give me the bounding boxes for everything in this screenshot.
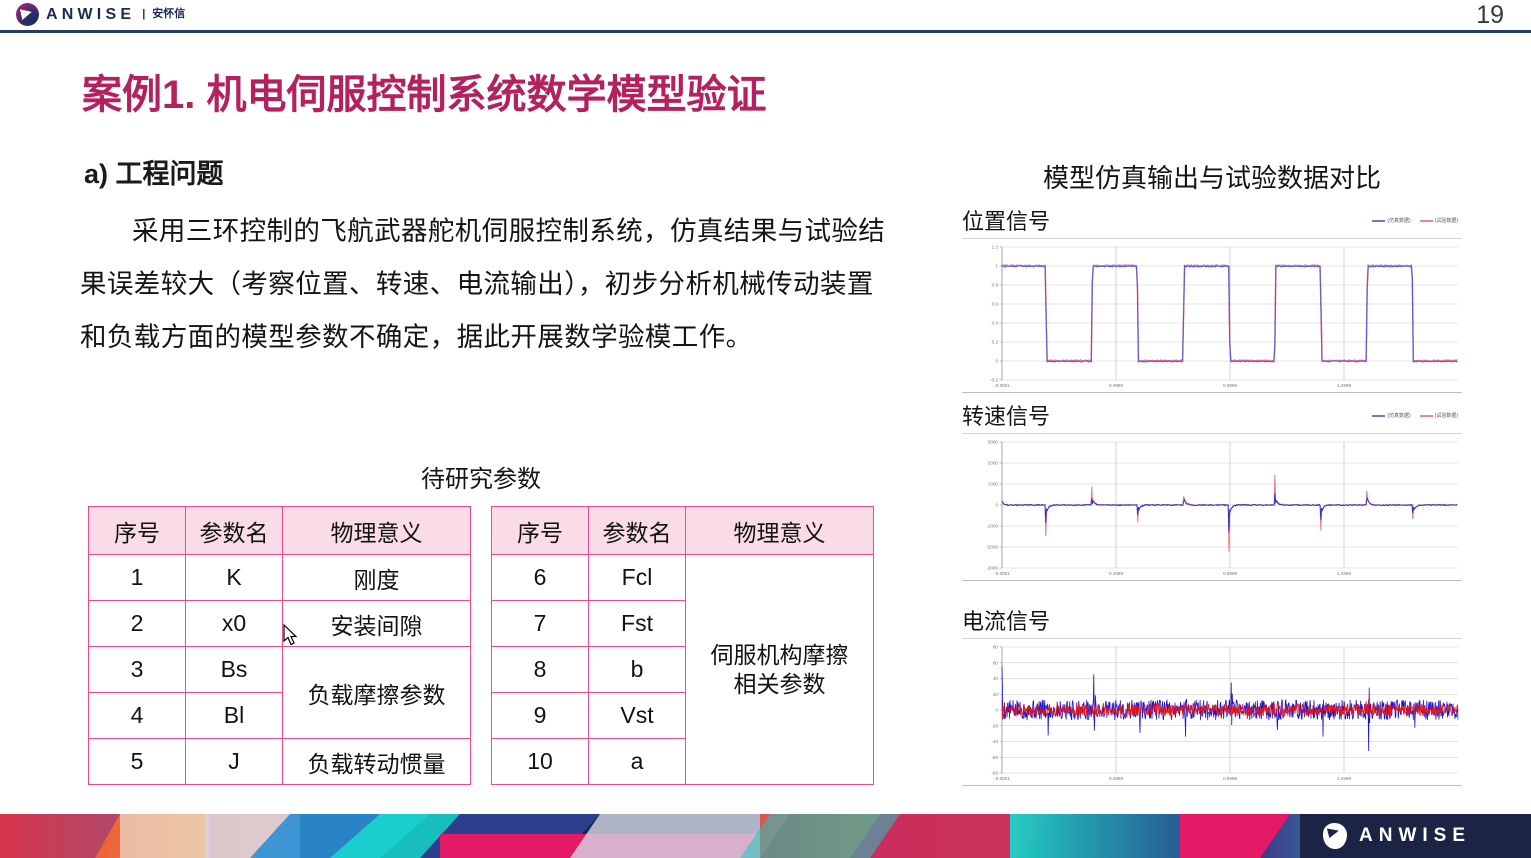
svg-text:-1000: -1000 [986,524,998,529]
svg-text:-60: -60 [991,755,998,760]
column-header-param: 参数名 [186,507,283,555]
column-header-no: 序号 [492,507,589,555]
page-number: 19 [1476,1,1504,29]
svg-text:0: 0 [995,503,998,508]
chart-legend-speed: (仿真数据) (试验数据) [1372,412,1458,419]
chart-position-signal: 位置信号 (仿真数据) (试验数据) 1.210.80.60.40.20-0.2… [962,208,1474,393]
cell-no: 4 [89,693,186,739]
body-paragraph: 采用三环控制的飞航武器舵机伺服控制系统，仿真结果与试验结果误差较大（考察位置、转… [80,205,900,364]
chart-svg-position: 1.210.80.60.40.20-0.2 -0.00010.49990.999… [962,239,1462,394]
footer-brand-name: ANWISE [1359,825,1471,847]
svg-text:2000: 2000 [988,461,999,466]
table-row: 5 J 负载转动惯量 [89,739,471,785]
svg-text:0: 0 [995,359,998,364]
legend-swatch-test [1420,220,1433,222]
cell-no: 7 [492,601,589,647]
table-row: 1 K 刚度 [89,555,471,601]
svg-text:-0.0001: -0.0001 [994,571,1010,576]
svg-text:0.4: 0.4 [992,321,999,326]
svg-text:-40: -40 [991,739,998,744]
svg-text:-2000: -2000 [986,545,998,550]
table-row: 2 x0 安装间隙 [89,601,471,647]
section-heading: a) 工程问题 [84,152,224,191]
cell-no: 1 [89,555,186,601]
anwise-logo: ANWISE | 安怀信 [16,3,185,26]
svg-text:0.4999: 0.4999 [1109,571,1123,576]
svg-text:-80: -80 [991,771,998,776]
chart-title-current: 电流信号 [962,608,1474,636]
table-header-row: 序号 参数名 物理意义 [492,507,874,555]
svg-text:-0.2: -0.2 [990,378,998,383]
chart-svg-speed: 3000200010000-1000-2000-3000 -0.00010.49… [962,434,1462,582]
charts-group-title: 模型仿真输出与试验数据对比 [948,158,1476,195]
legend-item-sim: (仿真数据) [1372,217,1410,224]
cell-meaning: 负载转动惯量 [283,739,471,785]
table-row: 3 Bs 负载摩擦参数 [89,647,471,693]
svg-text:-20: -20 [991,723,998,728]
cell-meaning: 安装间隙 [283,601,471,647]
chart-plot-position: (仿真数据) (试验数据) 1.210.80.60.40.20-0.2 -0.0… [962,238,1462,393]
parameters-table-right: 序号 参数名 物理意义 6 Fcl 伺服机构摩擦相关参数 7 Fst 8 b 9… [491,506,874,785]
cell-no: 3 [89,647,186,693]
legend-item-test: (试验数据) [1420,412,1458,419]
legend-label-sim: (仿真数据) [1387,217,1410,224]
svg-text:80: 80 [993,645,999,650]
footer-decoration [0,814,1531,858]
cell-no: 2 [89,601,186,647]
cell-meaning: 刚度 [283,555,471,601]
legend-label-test: (试验数据) [1435,217,1458,224]
legend-swatch-test [1420,415,1433,417]
cell-param: K [186,555,283,601]
svg-text:-3000: -3000 [986,566,998,571]
parameters-table-left: 序号 参数名 物理意义 1 K 刚度 2 x0 安装间隙 3 Bs 负载摩擦参数… [88,506,471,785]
cell-param: Fst [589,601,686,647]
legend-label-test: (试验数据) [1435,412,1458,419]
cell-param: b [589,647,686,693]
legend-swatch-sim [1372,220,1385,222]
anwise-footer-icon [1323,823,1347,849]
cell-param: Bs [186,647,283,693]
legend-item-test: (试验数据) [1420,217,1458,224]
cell-no: 9 [492,693,589,739]
svg-text:0.9999: 0.9999 [1223,383,1237,388]
column-header-meaning: 物理意义 [283,507,471,555]
cell-param: a [589,739,686,785]
chart-plot-current: 806040200-20-40-60-80 -0.00010.49990.999… [962,638,1462,786]
cell-param: Bl [186,693,283,739]
table-row: 6 Fcl 伺服机构摩擦相关参数 [492,555,874,601]
chart-speed-signal: 转速信号 (仿真数据) (试验数据) 3000200010000-1000-20… [962,403,1474,581]
footer-logo: ANWISE [1323,823,1471,849]
cell-param: J [186,739,283,785]
svg-text:-0.0001: -0.0001 [994,776,1010,781]
column-header-param: 参数名 [589,507,686,555]
svg-text:20: 20 [993,692,999,697]
legend-label-sim: (仿真数据) [1387,412,1410,419]
svg-text:0.4999: 0.4999 [1109,383,1123,388]
cell-param: Fcl [589,555,686,601]
footer-bar: ANWISE [0,814,1531,858]
svg-text:1000: 1000 [988,482,999,487]
table-caption: 待研究参数 [88,459,874,494]
table-header-row: 序号 参数名 物理意义 [89,507,471,555]
svg-text:40: 40 [993,676,999,681]
svg-text:0: 0 [995,708,998,713]
chart-legend-position: (仿真数据) (试验数据) [1372,217,1458,224]
cell-no: 8 [492,647,589,693]
svg-text:0.9999: 0.9999 [1223,776,1237,781]
chart-plot-speed: (仿真数据) (试验数据) 3000200010000-1000-2000-30… [962,433,1462,581]
cell-meaning-merged: 伺服机构摩擦相关参数 [686,555,874,785]
svg-text:0.4999: 0.4999 [1109,776,1123,781]
svg-text:1: 1 [995,264,998,269]
svg-text:0.2: 0.2 [992,340,999,345]
cell-no: 5 [89,739,186,785]
svg-text:1.4999: 1.4999 [1337,776,1351,781]
anwise-logo-icon [16,3,39,26]
svg-text:0.6: 0.6 [992,302,999,307]
parameters-table-group: 序号 参数名 物理意义 1 K 刚度 2 x0 安装间隙 3 Bs 负载摩擦参数… [88,506,874,784]
header-divider [0,30,1531,33]
table-gap [471,506,491,784]
svg-text:1.4999: 1.4999 [1337,571,1351,576]
cell-no: 6 [492,555,589,601]
svg-text:-0.0001: -0.0001 [994,383,1010,388]
chart-svg-current: 806040200-20-40-60-80 -0.00010.49990.999… [962,639,1462,787]
legend-swatch-sim [1372,415,1385,417]
brand-separator: | [142,9,145,20]
svg-text:1.2: 1.2 [992,245,999,250]
svg-text:3000: 3000 [988,440,999,445]
cell-meaning-merged: 负载摩擦参数 [283,647,471,739]
brand-name-en: ANWISE [46,7,135,23]
top-header-bar: ANWISE | 安怀信 19 [0,0,1531,30]
column-header-no: 序号 [89,507,186,555]
brand-name-cn: 安怀信 [152,9,185,20]
mouse-cursor [283,624,300,647]
chart-current-signal: 电流信号 806040200-20-40-60-80 -0.00010.4999… [962,608,1474,786]
svg-text:0.8: 0.8 [992,283,999,288]
column-header-meaning: 物理意义 [686,507,874,555]
cell-no: 10 [492,739,589,785]
svg-text:1.4999: 1.4999 [1337,383,1351,388]
svg-text:60: 60 [993,660,999,665]
cell-param: x0 [186,601,283,647]
cell-param: Vst [589,693,686,739]
legend-item-sim: (仿真数据) [1372,412,1410,419]
slide-title: 案例1. 机电伺服控制系统数学模型验证 [82,62,766,120]
svg-text:0.9999: 0.9999 [1223,571,1237,576]
